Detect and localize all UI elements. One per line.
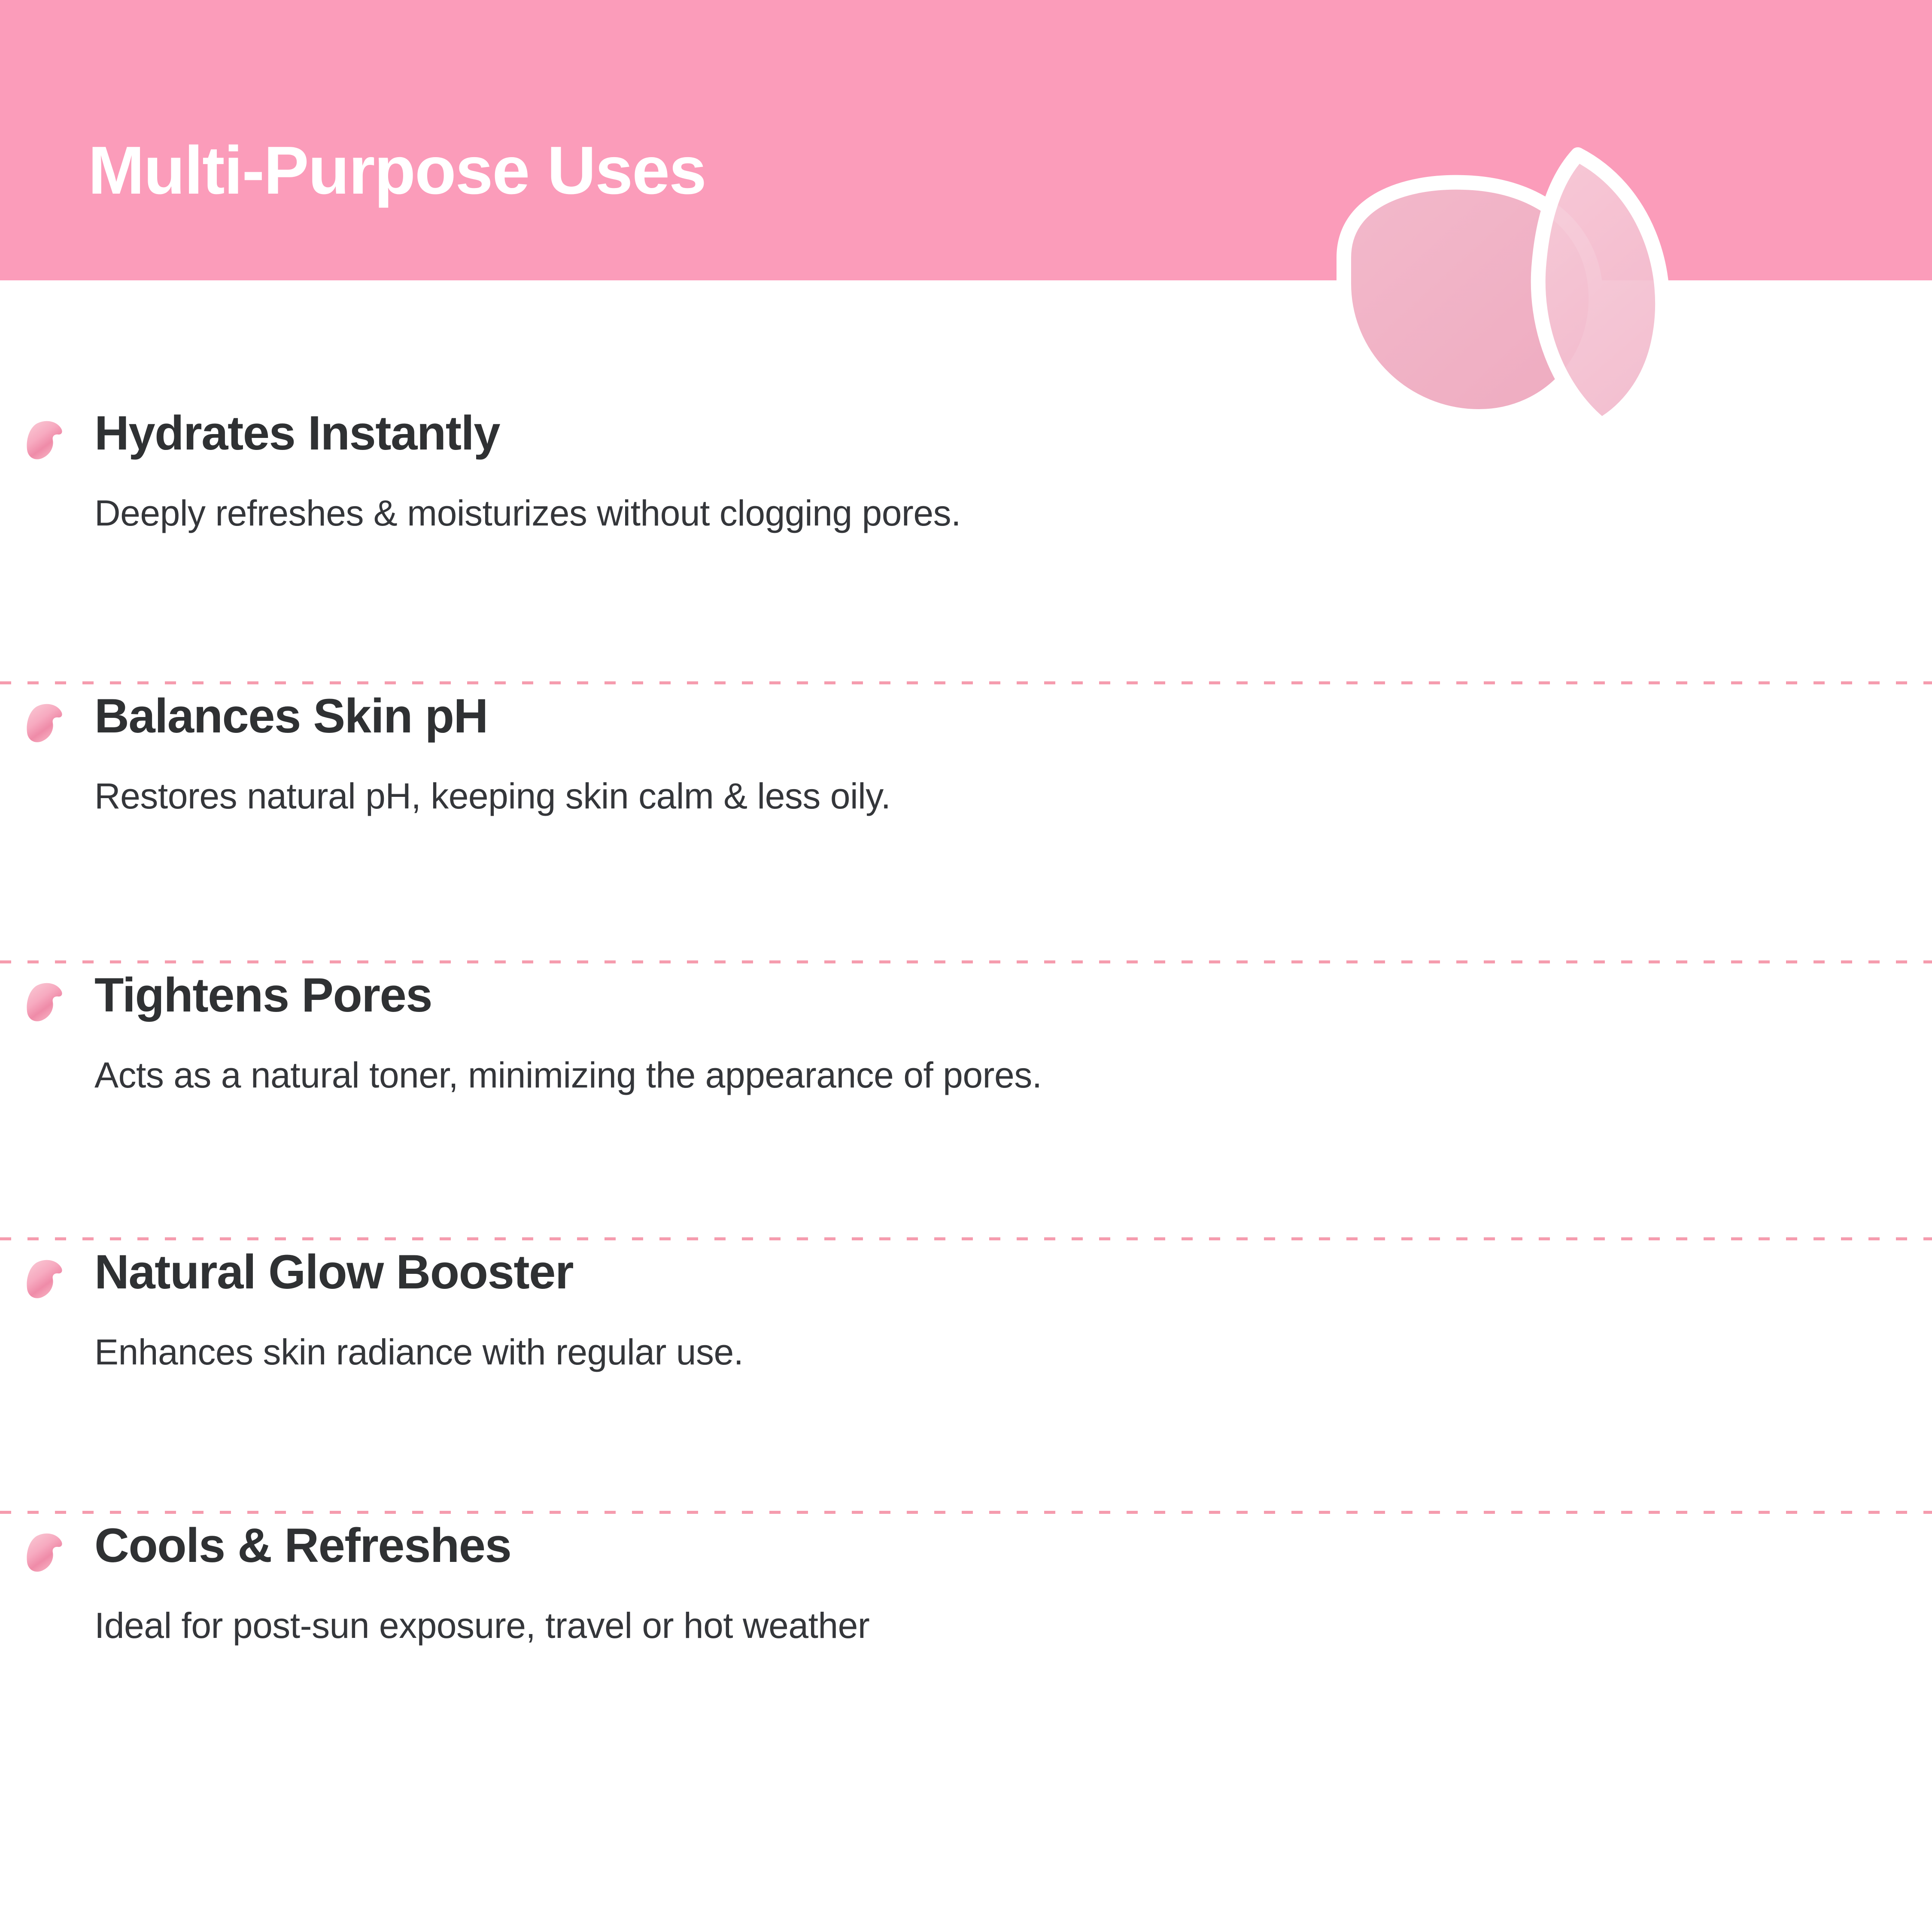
item-title: Balances Skin pH: [94, 692, 488, 740]
item-description: Acts as a natural toner, minimizing the …: [94, 1057, 1042, 1093]
rose-petal-icon: [24, 979, 72, 1027]
rose-petal-icon: [24, 1256, 72, 1304]
dashed-divider: [0, 1511, 1932, 1514]
item-title: Tightens Pores: [94, 971, 432, 1019]
rose-petal-icon: [24, 700, 72, 748]
rose-petal-icon: [24, 417, 72, 465]
page-title: Multi-Purpose Uses: [88, 137, 706, 204]
dashed-divider: [0, 960, 1932, 963]
item-description: Enhances skin radiance with regular use.: [94, 1334, 744, 1370]
item-title: Natural Glow Booster: [94, 1248, 573, 1296]
item-title: Hydrates Instantly: [94, 409, 500, 457]
item-title: Cools & Refreshes: [94, 1522, 511, 1570]
item-description: Ideal for post-sun exposure, travel or h…: [94, 1607, 869, 1643]
item-description: Restores natural pH, keeping skin calm &…: [94, 778, 890, 814]
infographic-page: Multi-Purpose Uses: [0, 0, 1932, 1932]
dashed-divider: [0, 1237, 1932, 1240]
header-banner: Multi-Purpose Uses: [0, 0, 1932, 280]
item-description: Deeply refreshes & moisturizes without c…: [94, 495, 961, 531]
dashed-divider: [0, 681, 1932, 684]
rose-petal-icon: [24, 1529, 72, 1577]
